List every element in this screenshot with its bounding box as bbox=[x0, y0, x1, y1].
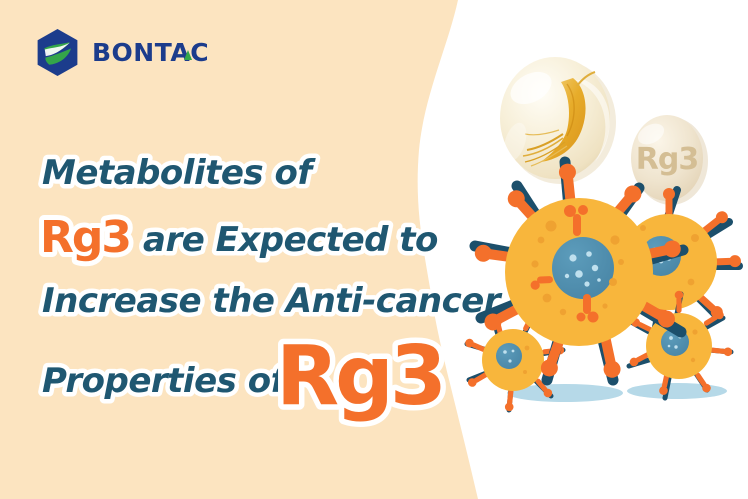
headline-line-3: Increase the Anti-cancer bbox=[38, 276, 478, 326]
hexagon-leaf-logo-icon bbox=[32, 27, 83, 78]
headline-line-2-text: are Expected to bbox=[143, 220, 438, 260]
headline-line-1-text: Metabolites of bbox=[42, 153, 316, 193]
headline-line-4: Properties of Rg3 bbox=[38, 330, 478, 418]
headline-line-2: Rg3 are Expected to bbox=[38, 208, 468, 266]
brand-logo[interactable]: BONTAC bbox=[32, 27, 220, 78]
headline-line-4-text: Properties of bbox=[42, 361, 290, 401]
headline-accent-rg3-large: Rg3 bbox=[276, 329, 443, 424]
headline-line-3-text: Increase the Anti-cancer bbox=[42, 281, 503, 321]
headline-block: Metabolites of Rg3 are Expected to Incre… bbox=[38, 150, 468, 418]
illustration-artwork: Rg3 bbox=[455, 50, 748, 450]
ginseng-softgel-capsule bbox=[499, 57, 616, 184]
headline-line-1: Metabolites of bbox=[38, 150, 468, 196]
cell-shadow-right bbox=[627, 383, 727, 399]
poster-canvas: BONTAC Metabolites of Rg3 are Expected t… bbox=[0, 0, 748, 499]
rg3-capsule-label: Rg3 bbox=[636, 142, 698, 177]
brand-wordmark: BONTAC bbox=[92, 38, 220, 68]
headline-accent-rg3-small: Rg3 bbox=[40, 212, 130, 263]
brand-wordmark-text: BONTAC bbox=[92, 38, 209, 67]
cancer-cell-cluster bbox=[464, 162, 741, 412]
